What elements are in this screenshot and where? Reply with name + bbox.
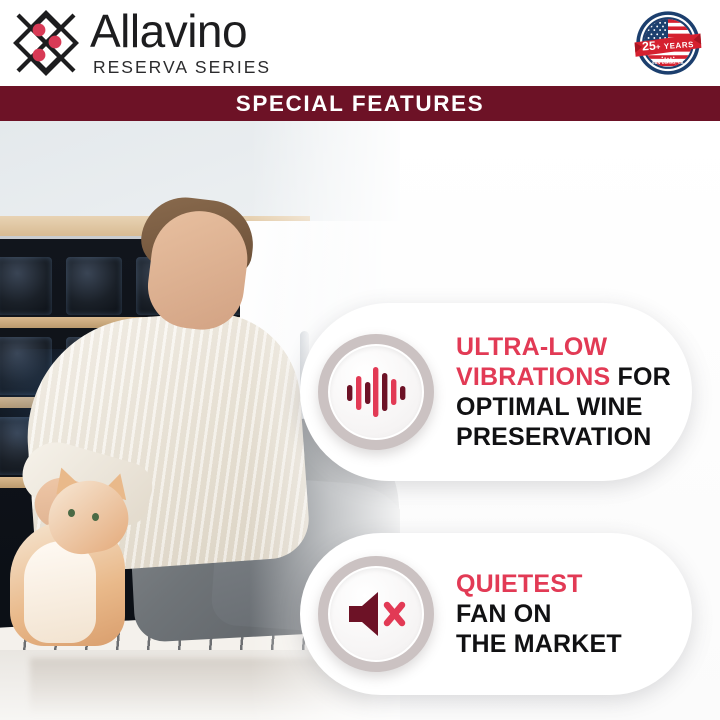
25-years-made-in-usa-seal-icon: 25+ YEARS SAN DIEGO, CA <box>632 7 704 79</box>
feature-line-1: ULTRA-LOW <box>456 332 671 362</box>
icon-ring <box>318 556 434 672</box>
icon-inner-disc <box>330 568 422 660</box>
page-header: Allavino RESERVA SERIES <box>0 0 720 86</box>
feature-line-2-suffix: FOR <box>610 363 671 391</box>
wine-bottle <box>0 257 52 315</box>
feature-line-2: FAN ON <box>456 599 622 629</box>
feature-card-text: QUIETEST FAN ON THE MARKET <box>456 569 638 659</box>
brand-logo[interactable]: Allavino RESERVA SERIES <box>12 8 271 78</box>
brand-series: RESERVA SERIES <box>93 56 271 78</box>
feature-line-1: QUIETEST <box>456 569 622 599</box>
badge-location-text: SAN DIEGO, CA <box>652 61 684 65</box>
feature-card-text: ULTRA-LOW VIBRATIONS FOR OPTIMAL WINE PR… <box>456 332 687 452</box>
icon-ring <box>318 334 434 450</box>
cat-eye-left <box>68 509 75 517</box>
feature-icon-wrap <box>318 556 434 672</box>
feature-line-4: PRESERVATION <box>456 422 671 452</box>
banner-title: SPECIAL FEATURES <box>236 91 485 117</box>
feature-line-1-text: ULTRA-LOW <box>456 333 607 361</box>
feature-card-quietest-fan[interactable]: QUIETEST FAN ON THE MARKET <box>300 533 692 695</box>
wine-bottle <box>66 257 122 315</box>
cat-chest <box>24 541 96 643</box>
feature-line-2: VIBRATIONS FOR <box>456 362 671 392</box>
special-features-banner: SPECIAL FEATURES <box>0 86 720 121</box>
feature-line-3: OPTIMAL WINE <box>456 392 671 422</box>
brand-name: Allavino <box>90 8 271 54</box>
feature-line-3: THE MARKET <box>456 629 622 659</box>
cat-eye-right <box>92 513 99 521</box>
muted-speaker-icon <box>345 589 407 639</box>
feature-icon-wrap <box>318 334 434 450</box>
feature-card-ultra-low-vibrations[interactable]: ULTRA-LOW VIBRATIONS FOR OPTIMAL WINE PR… <box>300 303 692 481</box>
feature-line-2-text: VIBRATIONS <box>456 363 610 391</box>
content-stage: ULTRA-LOW VIBRATIONS FOR OPTIMAL WINE PR… <box>0 121 720 720</box>
icon-inner-disc <box>330 346 422 438</box>
sound-waveform-icon <box>345 364 407 420</box>
allavino-diamond-lattice-logo-icon <box>12 9 80 77</box>
